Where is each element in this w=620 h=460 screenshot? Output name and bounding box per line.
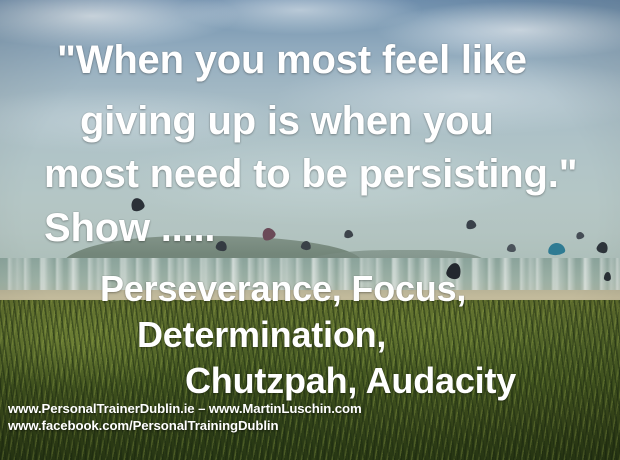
quote-line: Determination, [137,314,386,356]
quote-line: most need to be persisting." [44,152,577,197]
quote-line: Show ..... [44,206,215,251]
quote-poster: "When you most feel likegiving up is whe… [0,0,620,460]
quote-line: Perseverance, Focus, [100,268,466,310]
footer-credits: www.PersonalTrainerDublin.ie – www.Marti… [8,400,612,434]
quote-line: giving up is when you [80,99,494,144]
quote-line: "When you most feel like [57,38,527,83]
footer-line: www.PersonalTrainerDublin.ie – www.Marti… [8,400,612,417]
footer-line: www.facebook.com/PersonalTrainingDublin [8,417,612,434]
kite-icon [507,244,517,253]
quote-line: Chutzpah, Audacity [185,360,516,402]
kite-icon [604,272,612,281]
